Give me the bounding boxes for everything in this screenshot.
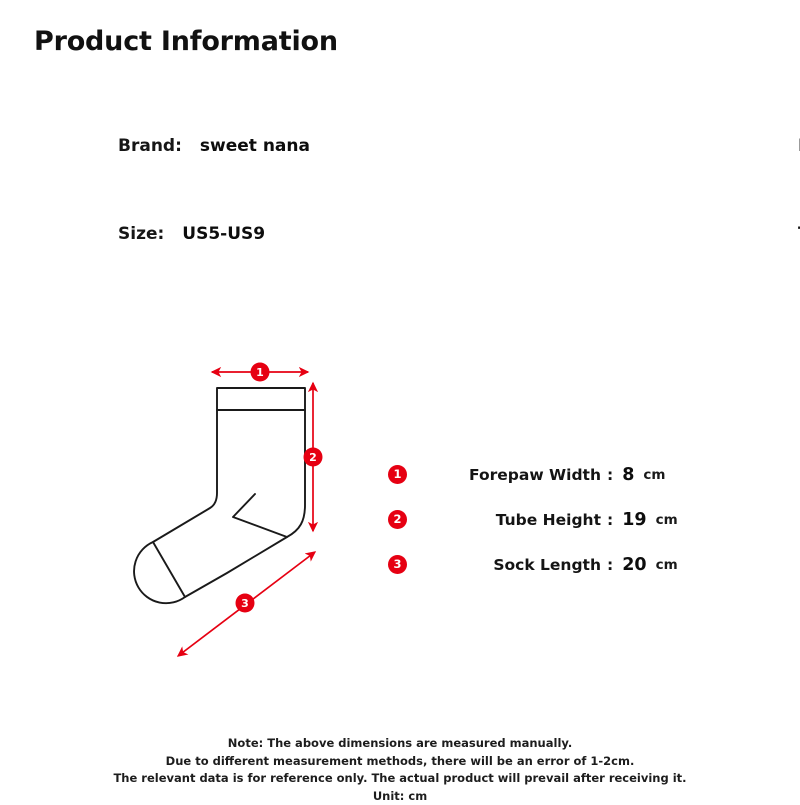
legend-badge-2: 2: [388, 510, 407, 529]
legend-colon: :: [607, 556, 613, 574]
spec-item-size: Size: US5-US9: [0, 224, 340, 312]
legend-item-forepaw-width: 1 Forepaw Width : 8 cm: [388, 452, 688, 497]
spec-label: Brand:: [118, 136, 182, 156]
spec-value: US5-US9: [182, 224, 265, 244]
legend-unit: cm: [656, 557, 678, 573]
legend-value: 20: [622, 555, 646, 575]
legend-colon: :: [607, 466, 613, 484]
legend-label: Forepaw Width: [449, 466, 601, 484]
legend-unit: cm: [643, 467, 665, 483]
spec-label: Size:: [118, 224, 164, 244]
note-line: The relevant data is for reference only.…: [0, 770, 800, 788]
diagram-badge-3-label: 3: [241, 597, 249, 610]
diagram-badge-1-label: 1: [256, 366, 264, 379]
spec-item-brand: Brand: sweet nana: [0, 136, 340, 224]
legend-unit: cm: [656, 512, 678, 528]
legend-badge-3: 3: [388, 555, 407, 574]
legend-item-tube-height: 2 Tube Height : 19 cm: [388, 497, 688, 542]
diagram-badge-1: 1: [251, 363, 270, 382]
diagram-badge-2: 2: [304, 448, 323, 467]
legend-value: 19: [622, 510, 646, 530]
spec-row: Size: US5-US9 Thickness: normal: [0, 224, 800, 312]
spec-row: Brand: sweet nana Material: cotton: [0, 136, 800, 224]
legend-colon: :: [607, 511, 613, 529]
spec-item-thickness: Thickness: normal: [340, 224, 798, 312]
measurement-legend: 1 Forepaw Width : 8 cm 2 Tube Height : 1…: [388, 452, 688, 587]
sock-outline-shape: [134, 388, 305, 603]
product-spec-table: Brand: sweet nana Material: cotton Size:…: [0, 136, 800, 312]
note-line: Unit: cm: [0, 788, 800, 805]
legend-value: 8: [622, 465, 634, 485]
spec-item-material: Material: cotton: [340, 136, 798, 224]
footer-note: Note: The above dimensions are measured …: [0, 735, 800, 805]
legend-item-sock-length: 3 Sock Length : 20 cm: [388, 542, 688, 587]
diagram-badge-2-label: 2: [309, 451, 317, 464]
legend-badge-1: 1: [388, 465, 407, 484]
diagram-badge-3: 3: [236, 594, 255, 613]
legend-label: Tube Height: [449, 511, 601, 529]
spec-value: sweet nana: [200, 136, 310, 156]
sock-measurement-diagram: 1 2 3: [95, 345, 355, 675]
note-line: Note: The above dimensions are measured …: [0, 735, 800, 753]
page-title: Product Information: [34, 26, 338, 57]
legend-label: Sock Length: [449, 556, 601, 574]
note-line: Due to different measurement methods, th…: [0, 753, 800, 771]
